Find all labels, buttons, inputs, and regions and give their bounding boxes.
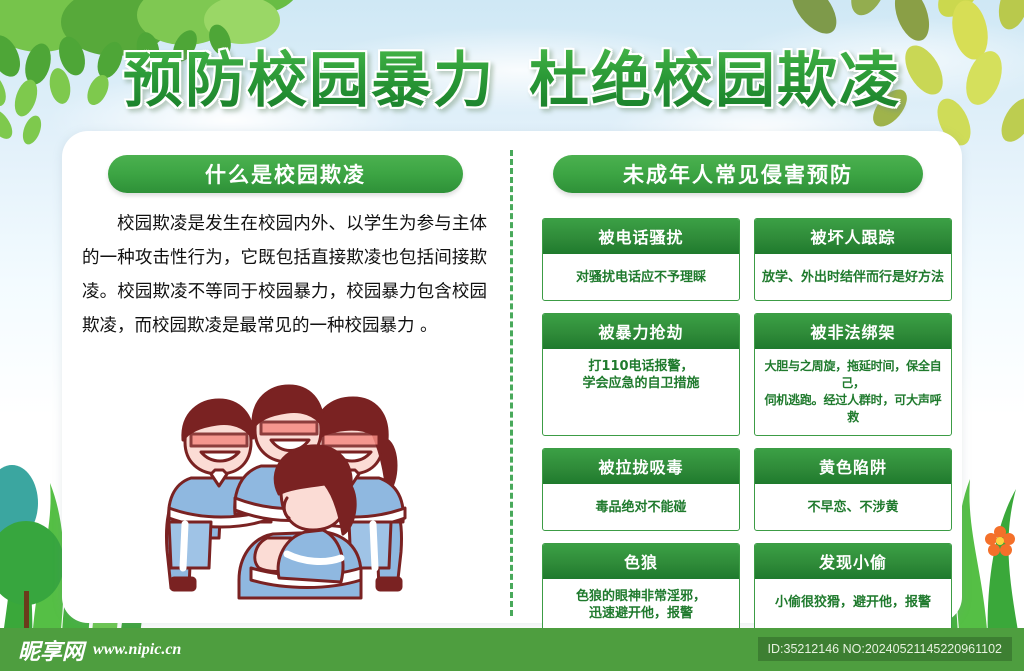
prevention-card-title: 被非法绑架 [755, 314, 951, 349]
prevention-card-text: 色狼的眼神非常淫邪，迅速避开他，报警 [543, 579, 739, 631]
prevention-card-title: 色狼 [543, 544, 739, 579]
prevention-card-title: 被电话骚扰 [543, 219, 739, 254]
title-part-1: 预防校园暴力 [123, 46, 495, 116]
prevention-card-text: 大胆与之周旋，拖延时间，保全自己，伺机逃跑。经过人群时，可大声呼救 [755, 349, 951, 435]
poster-canvas: 预防校园暴力杜绝校园欺凌 什么是校园欺凌 校 [0, 0, 1024, 671]
right-panel-heading: 未成年人常见侵害预防 [553, 155, 923, 193]
prevention-card: 被坏人跟踪放学、外出时结伴而行是好方法 [754, 218, 952, 301]
prevention-card-title: 黄色陷阱 [755, 449, 951, 484]
prevention-card: 被电话骚扰对骚扰电话应不予理睬 [542, 218, 740, 301]
prevention-card-text: 毒品绝对不能碰 [543, 484, 739, 530]
site-brand-name: 昵享网 [18, 634, 84, 666]
left-panel-heading: 什么是校园欺凌 [108, 155, 463, 193]
site-url: www.nipic.cn [93, 641, 181, 659]
prevention-card-text: 对骚扰电话应不予理睬 [543, 254, 739, 300]
prevention-card-title: 发现小偷 [755, 544, 951, 579]
prevention-card: 被非法绑架大胆与之周旋，拖延时间，保全自己，伺机逃跑。经过人群时，可大声呼救 [754, 313, 952, 436]
prevention-card-text: 不早恋、不涉黄 [755, 484, 951, 530]
prevention-card: 色狼色狼的眼神非常淫邪，迅速避开他，报警 [542, 543, 740, 632]
footer-bar: 昵享网 www.nipic.cn ID:35212146 NO:20240521… [0, 628, 1024, 671]
poster-title: 预防校园暴力杜绝校园欺凌 [0, 42, 1024, 120]
prevention-card-title: 被坏人跟踪 [755, 219, 951, 254]
image-id-tag: ID:35212146 NO:20240521145220961102 [758, 637, 1012, 661]
prevention-card: 被拉拢吸毒毒品绝对不能碰 [542, 448, 740, 531]
left-panel-body-text: 校园欺凌是发生在校园内外、以学生为参与主体的一种攻击性行为，它既包括直接欺凌也包… [82, 207, 487, 343]
prevention-card-title: 被拉拢吸毒 [543, 449, 739, 484]
prevention-card: 被暴力抢劫打110电话报警，学会应急的自卫措施 [542, 313, 740, 436]
prevention-card-text: 放学、外出时结伴而行是好方法 [755, 254, 951, 300]
prevention-card: 黄色陷阱不早恋、不涉黄 [754, 448, 952, 531]
title-part-2: 杜绝校园欺凌 [529, 46, 901, 116]
prevention-card-title: 被暴力抢劫 [543, 314, 739, 349]
prevention-card-text: 打110电话报警，学会应急的自卫措施 [543, 349, 739, 401]
prevention-card-grid: 被电话骚扰对骚扰电话应不予理睬被坏人跟踪放学、外出时结伴而行是好方法被暴力抢劫打… [542, 218, 952, 632]
bullying-illustration [155, 382, 425, 602]
panel-divider [510, 150, 513, 616]
prevention-card-text: 小偷很狡猾，避开他，报警 [755, 579, 951, 625]
prevention-card: 发现小偷小偷很狡猾，避开他，报警 [754, 543, 952, 632]
